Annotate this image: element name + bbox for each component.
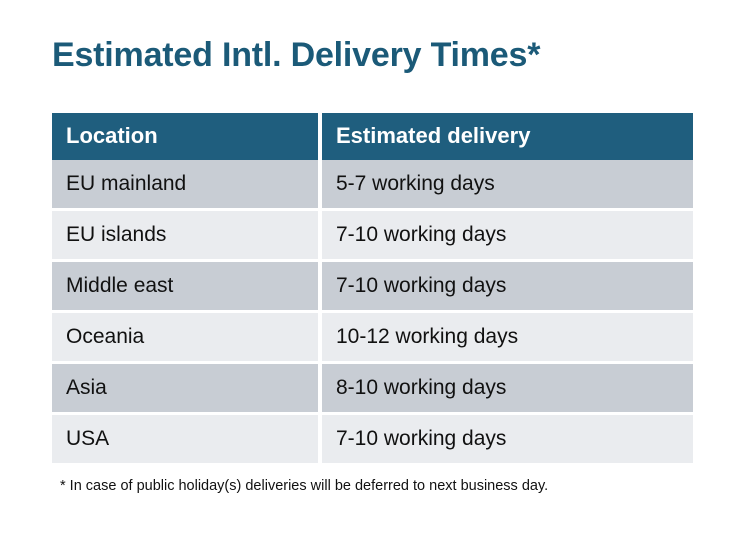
page-title: Estimated Intl. Delivery Times* xyxy=(52,36,540,75)
cell-location: Asia xyxy=(52,364,320,412)
delivery-times-table: Location Estimated delivery EU mainland … xyxy=(52,113,693,463)
table-header: Location Estimated delivery xyxy=(52,113,693,160)
cell-delivery: 7-10 working days xyxy=(320,262,693,310)
cell-location: USA xyxy=(52,415,320,463)
table-row: Middle east 7-10 working days xyxy=(52,262,693,310)
cell-location: EU islands xyxy=(52,211,320,259)
delivery-times-card: Estimated Intl. Delivery Times* Location… xyxy=(0,0,745,536)
cell-delivery: 8-10 working days xyxy=(320,364,693,412)
table-row: USA 7-10 working days xyxy=(52,415,693,463)
cell-delivery: 5-7 working days xyxy=(320,160,693,208)
column-header-location: Location xyxy=(52,113,320,160)
table-body: EU mainland 5-7 working days EU islands … xyxy=(52,160,693,463)
column-header-estimated-delivery: Estimated delivery xyxy=(320,113,693,160)
cell-location: Oceania xyxy=(52,313,320,361)
cell-location: EU mainland xyxy=(52,160,320,208)
table-row: EU mainland 5-7 working days xyxy=(52,160,693,208)
footnote: * In case of public holiday(s) deliverie… xyxy=(60,478,548,494)
table-row: EU islands 7-10 working days xyxy=(52,211,693,259)
table-header-row: Location Estimated delivery xyxy=(52,113,693,160)
cell-delivery: 10-12 working days xyxy=(320,313,693,361)
table-row: Oceania 10-12 working days xyxy=(52,313,693,361)
table-row: Asia 8-10 working days xyxy=(52,364,693,412)
cell-delivery: 7-10 working days xyxy=(320,211,693,259)
cell-delivery: 7-10 working days xyxy=(320,415,693,463)
cell-location: Middle east xyxy=(52,262,320,310)
